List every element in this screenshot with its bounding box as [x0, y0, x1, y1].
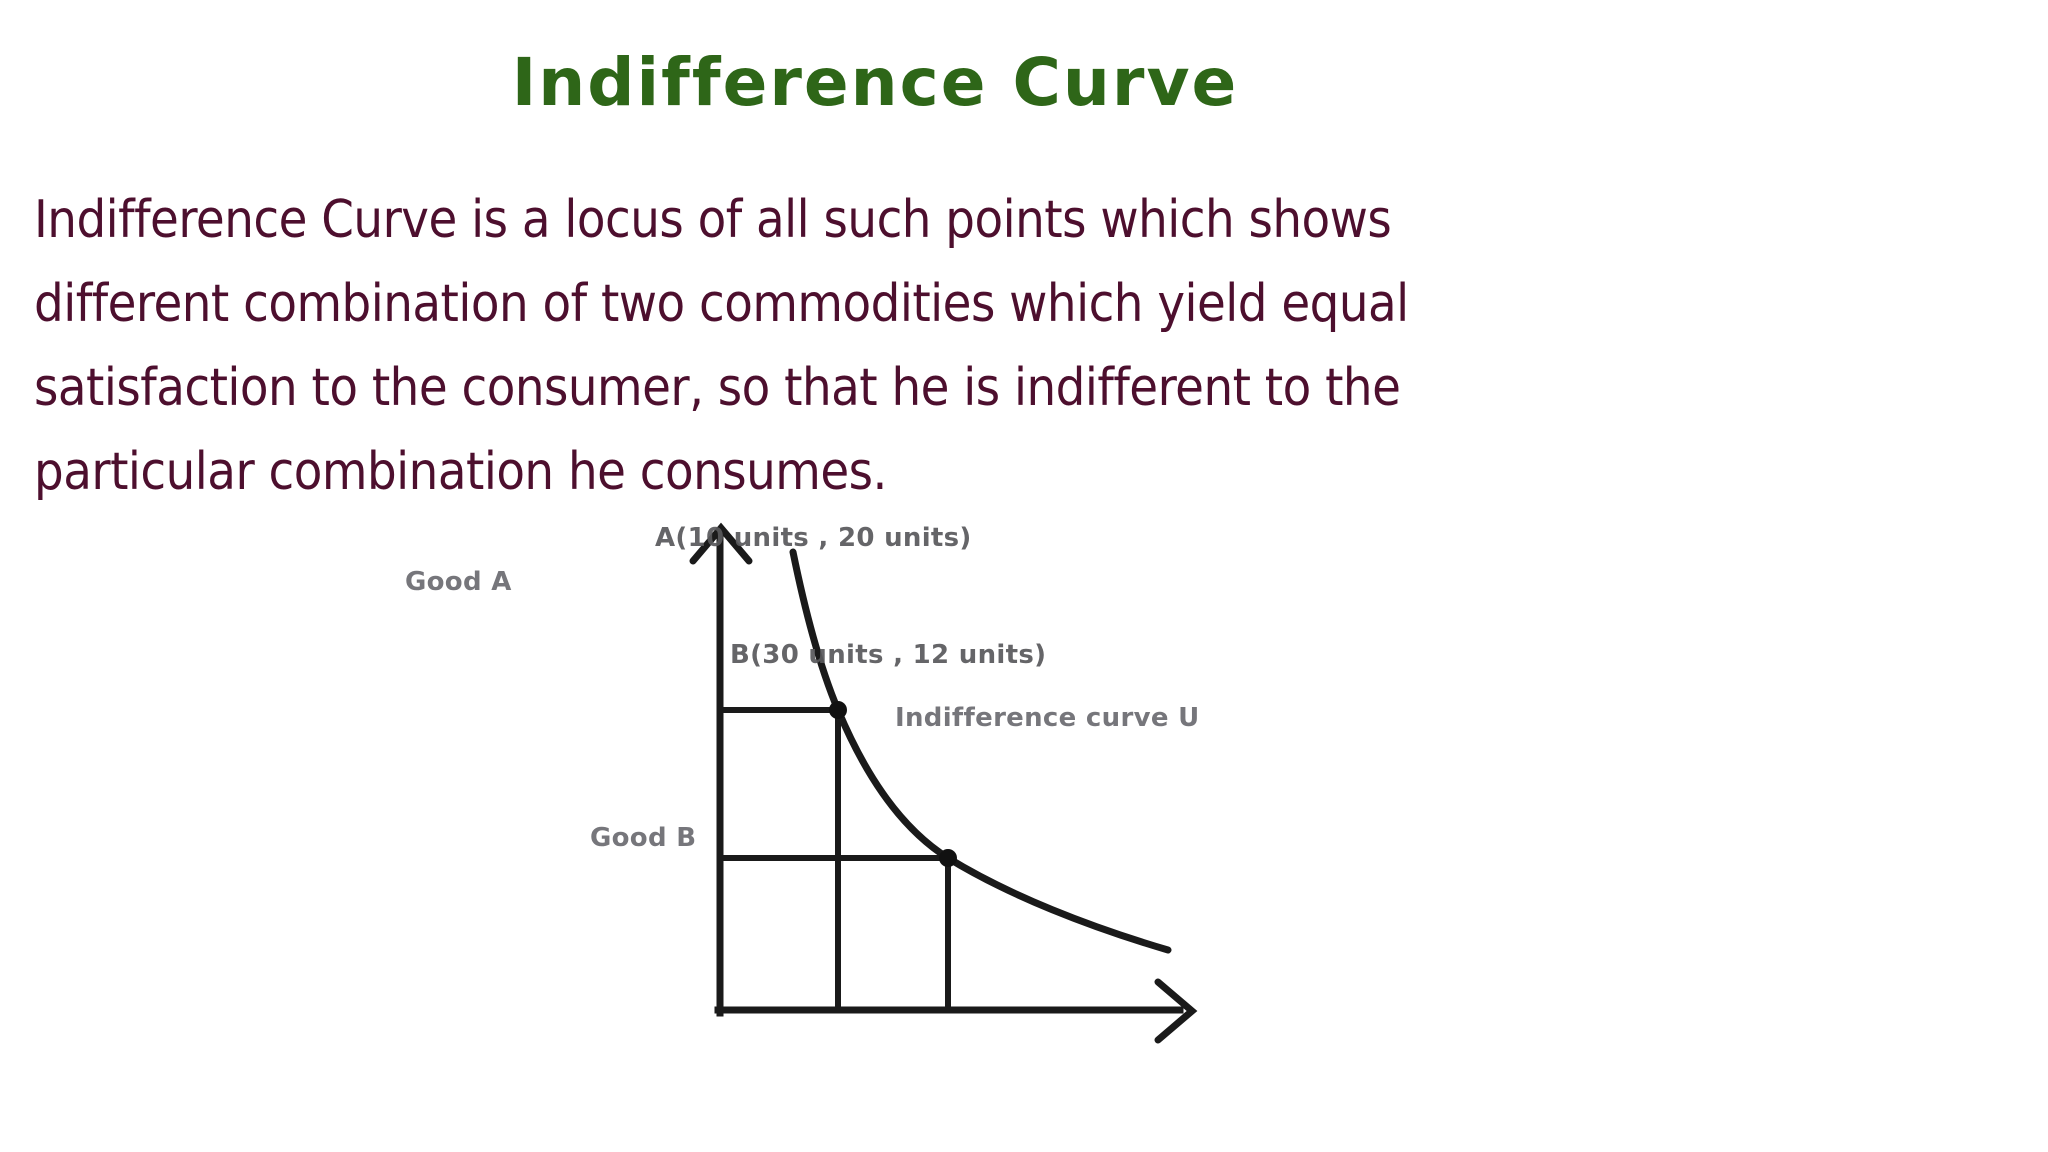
indifference-curve-diagram: A(10 units , 20 units) B(30 units , 12 u…: [490, 495, 1550, 1135]
slide-canvas: Indifference Curve Indifference Curve is…: [0, 0, 2048, 1152]
indifference-curve-svg: [490, 495, 1550, 1135]
page-title: Indifference Curve: [0, 48, 1750, 117]
paragraph-line-1: Indifference Curve is a locus of all suc…: [34, 178, 1794, 262]
indifference-curve-path: [793, 552, 1168, 950]
y-axis-label: Good A: [405, 567, 512, 597]
x-axis-label: Good B: [590, 823, 696, 853]
data-point-a: [829, 701, 847, 719]
definition-paragraph: Indifference Curve is a locus of all suc…: [34, 178, 1794, 514]
point-a-label: A(10 units , 20 units): [655, 523, 972, 553]
data-point-b: [939, 849, 957, 867]
curve-annotation-label: Indifference curve U: [895, 703, 1200, 733]
paragraph-line-2: different combination of two commodities…: [34, 262, 1794, 346]
point-b-label: B(30 units , 12 units): [730, 640, 1046, 670]
paragraph-line-3: satisfaction to the consumer, so that he…: [34, 346, 1794, 430]
